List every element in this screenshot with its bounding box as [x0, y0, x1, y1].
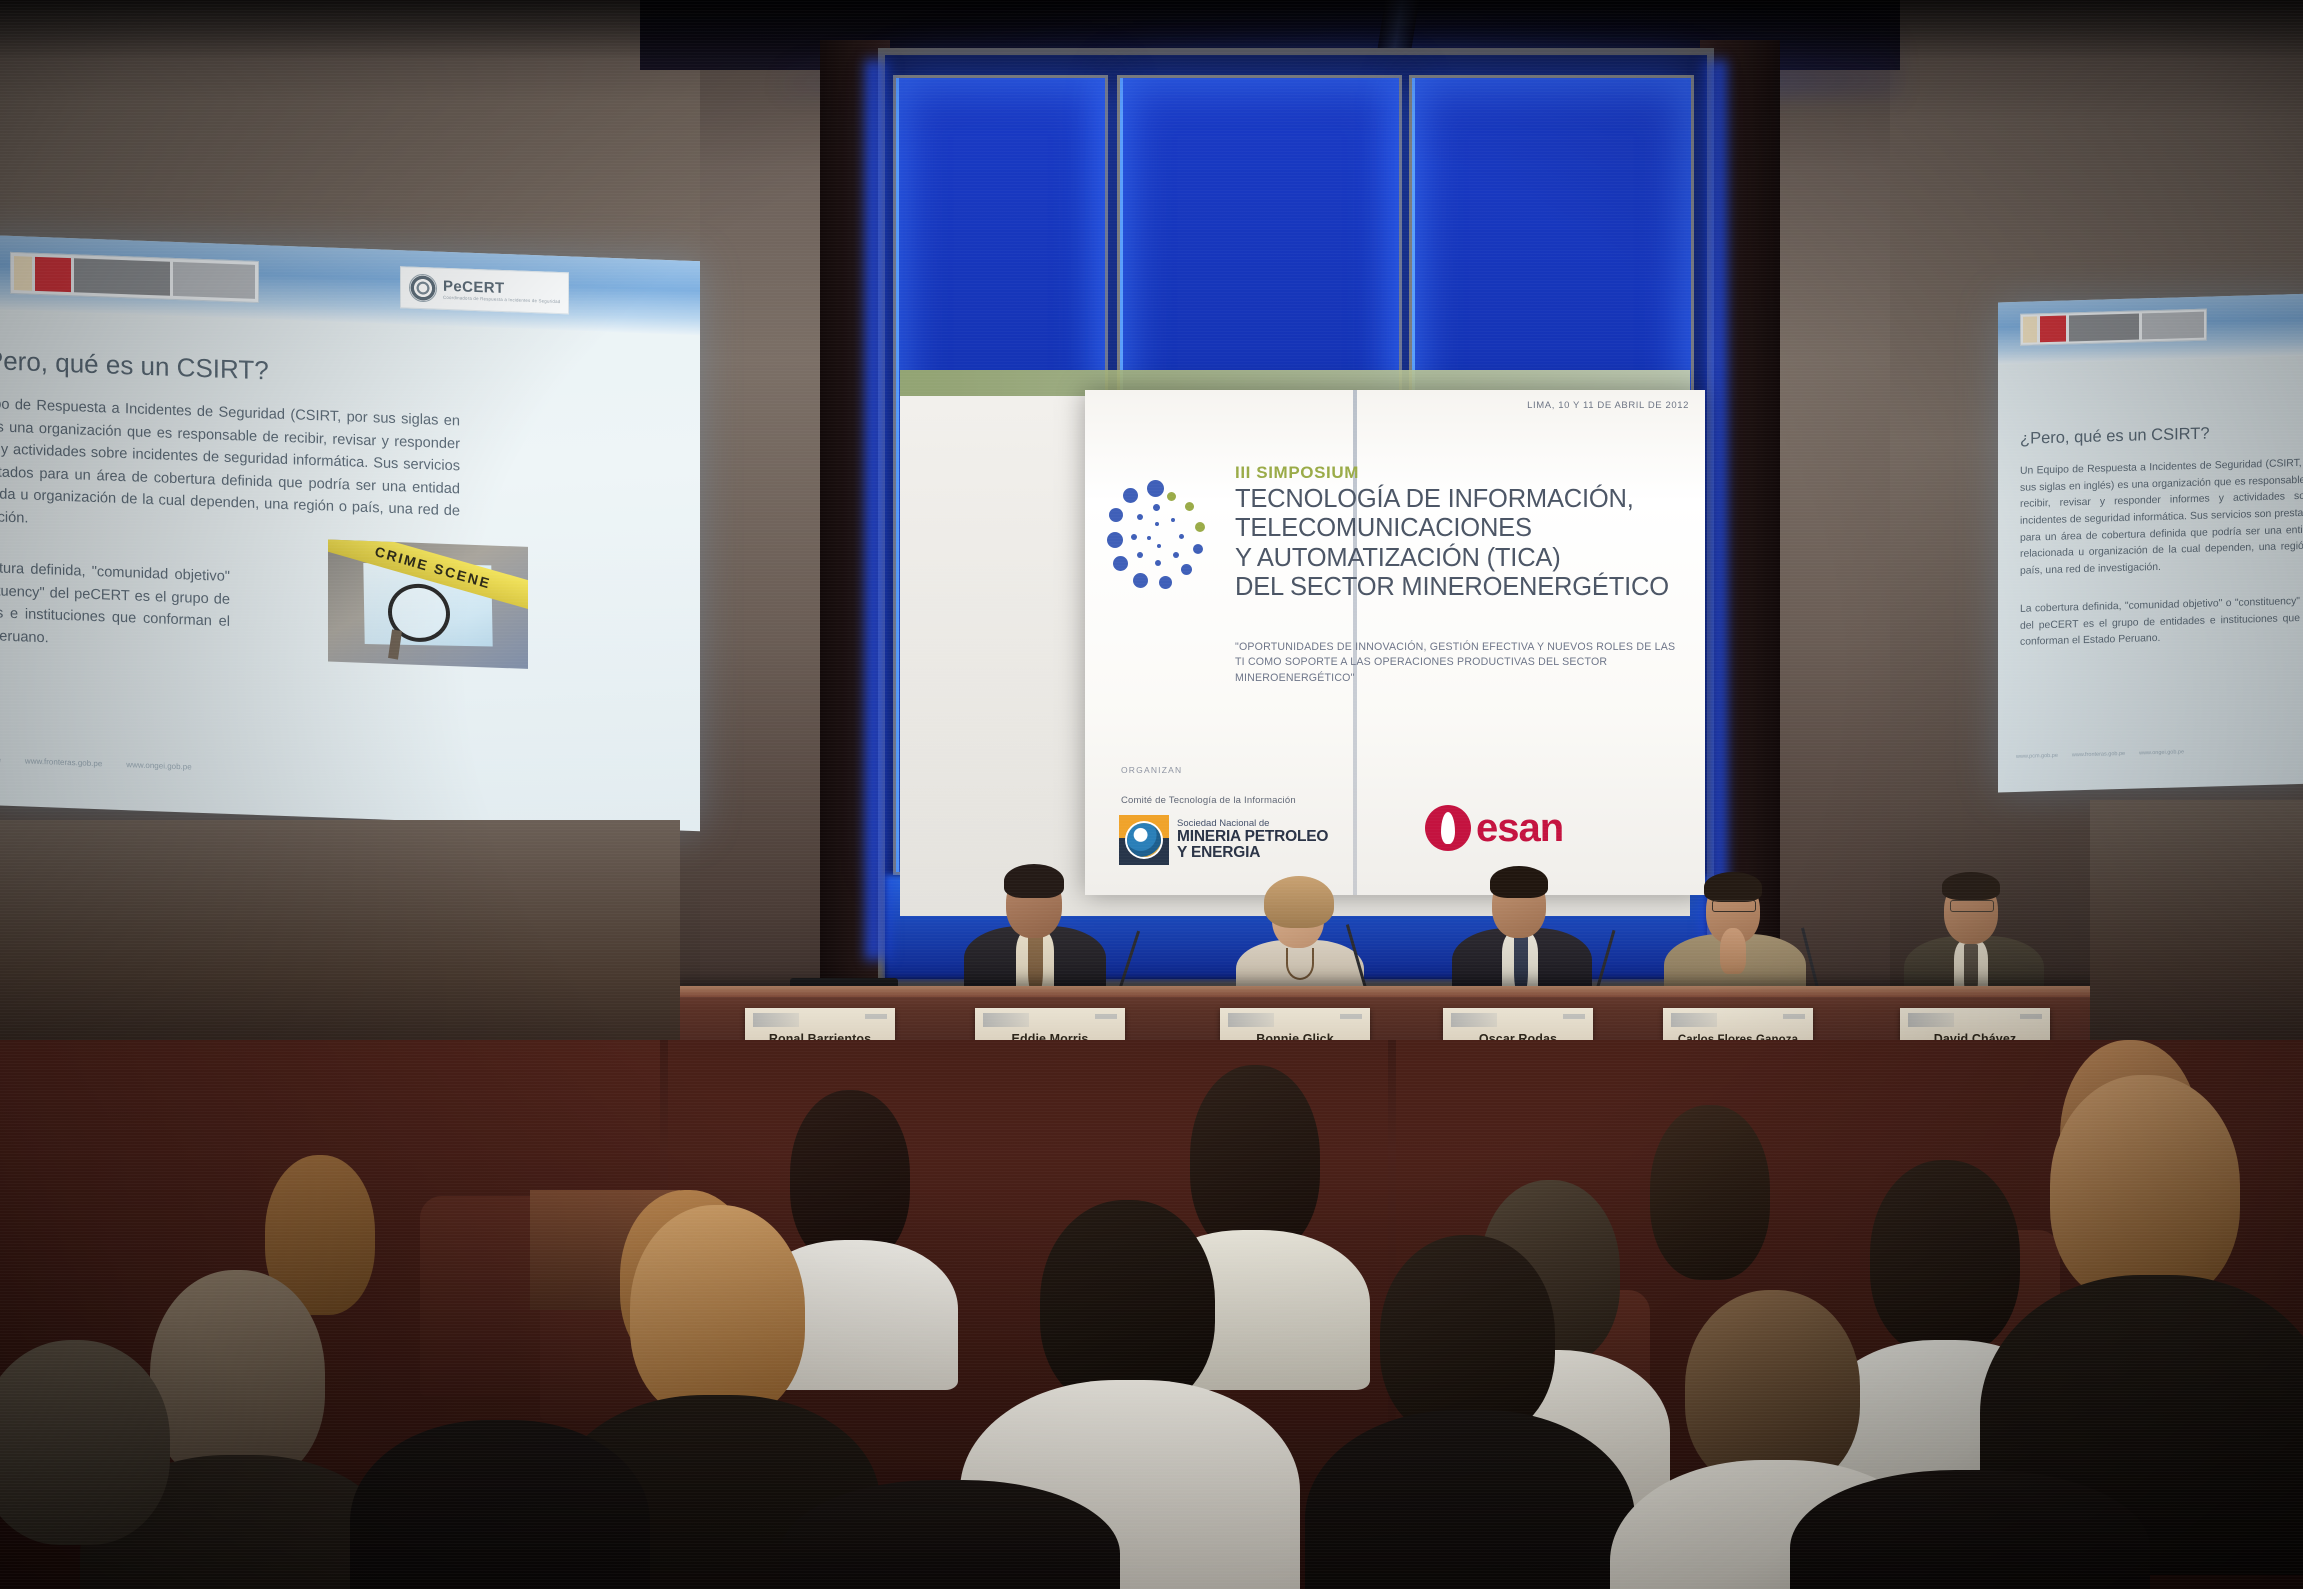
- nameplate-logo-icon: [1228, 1013, 1274, 1027]
- audience-shoulders: [1305, 1410, 1635, 1589]
- nameplate-logo2-icon: [1095, 1014, 1117, 1019]
- panelist-1-hair: [1004, 864, 1064, 898]
- audience-head: [2050, 1075, 2240, 1305]
- panelist-2: [1230, 876, 1370, 1004]
- slide-body-left: ¿Pero, qué es un CSIRT? Un Equipo de Res…: [0, 235, 700, 831]
- banner-date: LIMA, 10 Y 11 DE ABRIL DE 2012: [1527, 400, 1689, 411]
- banner-title-line-4: DEL SECTOR MINEROENERGÉTICO: [1235, 573, 1695, 603]
- audience-member-front-4: [1340, 1235, 1590, 1589]
- nameplate-logo2-icon: [1563, 1014, 1585, 1019]
- panelist-3-hair: [1490, 866, 1548, 898]
- snmpe-mark-icon: [1119, 815, 1169, 865]
- event-banner: LIMA, 10 Y 11 DE ABRIL DE 2012: [1085, 390, 1705, 895]
- projection-screen-right: ¿Pero, qué es un CSIRT? Un Equipo de Res…: [1998, 294, 2303, 793]
- slide-paragraph-1-right: Un Equipo de Respuesta a Incidentes de S…: [2020, 455, 2303, 580]
- panelist-4-hair: [1704, 872, 1762, 902]
- panelist-5: [1900, 874, 2048, 1004]
- snmpe-text: Sociedad Nacional de MINERIA PETROLEO Y …: [1177, 819, 1328, 860]
- banner-committee: Comité de Tecnología de la Información: [1121, 795, 1296, 806]
- nameplate-logo2-icon: [2020, 1014, 2042, 1019]
- slide-body-right: ¿Pero, qué es un CSIRT? Un Equipo de Res…: [1998, 294, 2303, 793]
- esan-logo: esan: [1425, 805, 1563, 851]
- audience-head: [0, 1340, 170, 1545]
- esan-wordmark: esan: [1476, 808, 1563, 848]
- slide-paragraph-1-left: Un Equipo de Respuesta a Incidentes de S…: [0, 391, 460, 546]
- audience-head: [630, 1205, 805, 1420]
- panelist-5-glasses-icon: [1950, 900, 1994, 912]
- slide-title-left: ¿Pero, qué es un CSIRT?: [0, 344, 470, 393]
- slide-paragraph-2-right: La cobertura definida, "comunidad objeti…: [2020, 594, 2300, 652]
- footer-link-2: www.fronteras.gob.pe: [25, 756, 102, 768]
- banner-subtitle: "OPORTUNIDADES DE INNOVACIÓN, GESTIÓN EF…: [1235, 640, 1685, 686]
- panelist-4-glasses-icon: [1712, 900, 1756, 912]
- tica-dot-logo: [1107, 478, 1222, 593]
- audience-member-front-10: [1790, 1470, 2150, 1589]
- footer-link-1: www.pcm.gob.pe: [0, 753, 1, 764]
- snmpe-line-2: MINERIA PETROLEO: [1177, 829, 1328, 845]
- panelist-2-hair: [1264, 876, 1334, 928]
- audience-head: [1040, 1200, 1215, 1410]
- conference-photo: LIMA, 10 Y 11 DE ABRIL DE 2012: [0, 0, 2303, 1589]
- slide-title-right: ¿Pero, qué es un CSIRT?: [2020, 422, 2303, 449]
- nameplate-logo2-icon: [1340, 1014, 1362, 1019]
- stage-right-wall-lower: [2090, 800, 2303, 1080]
- banner-organizan-label: ORGANIZAN: [1121, 765, 1182, 775]
- banner-edition: III SIMPOSIUM: [1235, 464, 1695, 483]
- audience-shoulders: [350, 1420, 650, 1589]
- projection-screen-left: PeCERT Coordinadora de Respuesta a Incid…: [0, 235, 700, 831]
- snmpe-logo: Sociedad Nacional de MINERIA PETROLEO Y …: [1119, 815, 1328, 865]
- audience-member-front-6: [2020, 1075, 2290, 1535]
- nameplate-logo-icon: [1451, 1013, 1497, 1027]
- audience-member-front-8: [350, 1420, 650, 1589]
- audience-member-front-9: [780, 1480, 1120, 1589]
- banner-heading-block: III SIMPOSIUM TECNOLOGÍA DE INFORMACIÓN,…: [1235, 464, 1695, 603]
- dais-top-edge: [670, 986, 2110, 997]
- panelist-5-hair: [1942, 872, 2000, 900]
- footer-link-1-right: www.pcm.gob.pe: [2016, 753, 2058, 760]
- banner-title-line-3: Y AUTOMATIZACIÓN (TICA): [1235, 544, 1695, 574]
- nameplate-logo-icon: [753, 1013, 799, 1027]
- blue-glow-left: [866, 60, 892, 960]
- banner-title-line-1: TECNOLOGÍA DE INFORMACIÓN,: [1235, 485, 1695, 515]
- nameplate-logo-icon: [983, 1013, 1029, 1027]
- nameplate-logo-icon: [1671, 1013, 1717, 1027]
- footer-link-3-right: www.ongei.gob.pe: [2139, 749, 2184, 756]
- slide-paragraph-2-left: La cobertura definida, "comunidad objeti…: [0, 555, 230, 656]
- nameplate-logo-icon: [1908, 1013, 1954, 1027]
- footer-link-2-right: www.fronteras.gob.pe: [2072, 751, 2125, 758]
- panelist-4-hand: [1720, 928, 1746, 974]
- panelist-1: [960, 868, 1110, 998]
- audience-member-front-7: [0, 1340, 220, 1589]
- banner-title: TECNOLOGÍA DE INFORMACIÓN, TELECOMUNICAC…: [1235, 485, 1695, 603]
- slide-footer-right: www.pcm.gob.pe www.fronteras.gob.pe www.…: [2016, 749, 2184, 760]
- banner-title-line-2: TELECOMUNICACIONES: [1235, 514, 1695, 544]
- snmpe-line-3: Y ENERGIA: [1177, 845, 1328, 861]
- audience-shoulders: [780, 1480, 1120, 1589]
- audience-head: [1650, 1105, 1770, 1280]
- esan-mark-icon: [1425, 805, 1471, 851]
- panelist-2-necklace: [1286, 948, 1314, 980]
- panelist-3: [1448, 868, 1596, 1000]
- nameplate-logo2-icon: [865, 1014, 887, 1019]
- panelist-4: [1660, 872, 1810, 1002]
- crime-scene-image: CRIME SCENE: [328, 540, 528, 669]
- nameplate-logo2-icon: [1783, 1014, 1805, 1019]
- footer-link-3: www.ongei.gob.pe: [126, 760, 191, 771]
- audience-shoulders: [1790, 1470, 2150, 1589]
- slide-footer-left: www.pcm.gob.pe www.fronteras.gob.pe www.…: [0, 753, 192, 771]
